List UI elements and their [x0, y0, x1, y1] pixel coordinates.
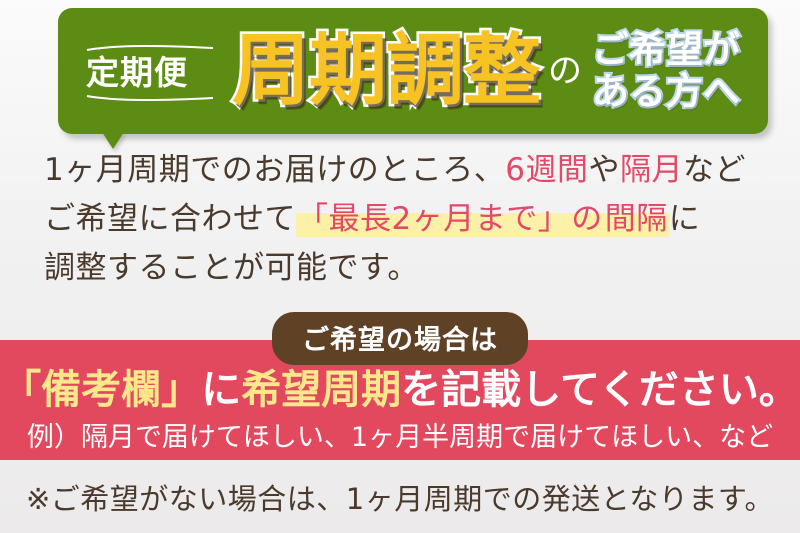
header-subtitle-line-1: ご希望が — [592, 30, 740, 70]
subscription-badge-label: 定期便 — [86, 52, 214, 93]
body-line-1-text-a: 1ヶ月周期でのお届けのところ、 — [44, 152, 505, 188]
body-line-1-text-c: など — [683, 152, 746, 188]
body-line-2: ご希望に合わせて「最長2ヶ月まで」の間隔に — [44, 195, 774, 244]
body-line-2-highlight-maxtwomonths: 「最長2ヶ月まで」 — [296, 201, 570, 237]
wave-line-bottom-icon — [86, 94, 214, 101]
body-line-2-text-b: に — [669, 201, 701, 237]
body-line-1: 1ヶ月周期でのお届けのところ、6週間や隔月など — [44, 146, 774, 195]
body-line-1-accent-6weeks: 6週間 — [505, 152, 588, 188]
body-line-2-text-a: ご希望に合わせて — [44, 201, 296, 237]
body-line-2-highlight-no: の — [570, 201, 604, 237]
header-banner-box: 定期便 周期調整 の ご希望が ある方へ — [58, 8, 768, 134]
body-line-1-text-b: や — [588, 152, 620, 188]
instruction-headline-ni: に — [201, 367, 241, 413]
subscription-badge: 定期便 — [82, 41, 218, 100]
header-banner: 定期便 周期調整 の ご希望が ある方へ — [58, 8, 768, 134]
instruction-examples: 例）隔月で届けてほしい、1ヶ月半周期で届けてほしい、など — [0, 423, 800, 453]
instruction-headline-remarks: 「備考欄」 — [1, 367, 201, 413]
instruction-headline: 「備考欄」に希望周期を記載してください。 — [0, 368, 800, 412]
body-line-3: 調整することが可能です。 — [44, 244, 774, 293]
wave-line-top-icon — [86, 45, 214, 52]
header-subtitle: ご希望が ある方へ — [592, 30, 740, 112]
body-line-2-highlight-interval: 間隔 — [604, 201, 669, 237]
footer-note: ※ご希望がない場合は、1ヶ月周期での発送となります。 — [0, 476, 800, 518]
page-title: 周期調整 — [232, 32, 540, 110]
instruction-headline-tail: を記載してください。 — [401, 367, 799, 413]
title-particle: の — [548, 54, 582, 88]
instruction-headline-cycle: 希望周期 — [241, 367, 401, 413]
header-subtitle-line-2: ある方へ — [592, 72, 740, 112]
body-line-1-accent-everyothermonth: 隔月 — [620, 152, 683, 188]
request-case-badge: ご希望の場合は — [272, 312, 528, 365]
body-paragraph: 1ヶ月周期でのお届けのところ、6週間や隔月など ご希望に合わせて「最長2ヶ月まで… — [44, 146, 774, 293]
